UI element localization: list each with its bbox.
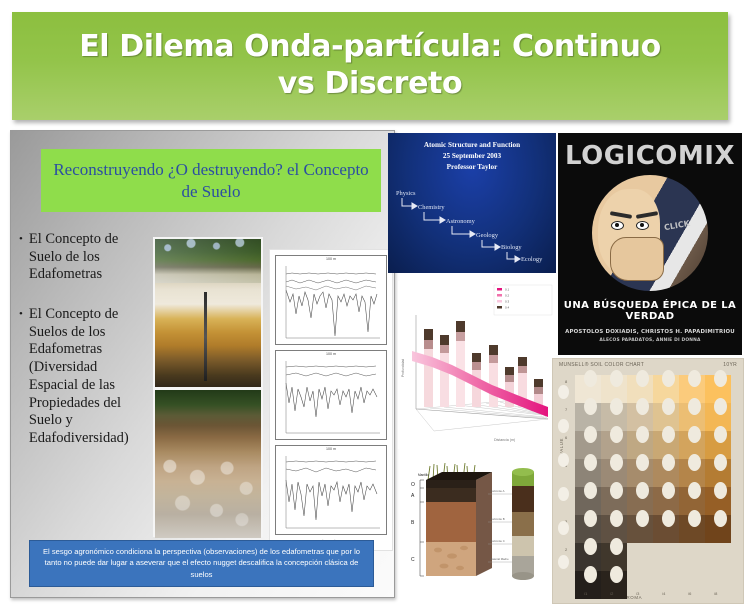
munsell-swatch-notch <box>688 482 701 499</box>
munsell-swatch-notch <box>714 426 727 443</box>
left-slide-heading-box: Reconstruyendo ¿O destruyendo? el Concep… <box>41 149 381 212</box>
munsell-swatch <box>627 515 653 543</box>
munsell-swatch-notch <box>636 398 649 415</box>
spectral-chart-3: 100 m <box>275 445 387 535</box>
munsell-swatch-notch <box>610 538 623 555</box>
atomic-slide-presenter: Professor Taylor <box>388 162 556 173</box>
logicomix-book-cover: LOGICOMIX CLICK UNA BÚSQUEDA ÉPICA DE LA… <box>558 133 742 355</box>
munsell-swatch-notch <box>714 510 727 527</box>
page-title-line1: El Dilema Onda-partícula: Continuo <box>79 29 661 66</box>
bullet-text: El Concepto de Suelos de los Edafometras… <box>29 306 149 448</box>
core-label-1: Horizonte A <box>490 489 505 493</box>
podzol-soil-profile-photo <box>155 239 261 387</box>
soil-profile-diagram-svg: O A B C Mantillo Hor <box>400 450 550 602</box>
munsell-swatch-notch <box>662 482 675 499</box>
slide-title-banner: El Dilema Onda-partícula: Continuo vs Di… <box>12 12 728 120</box>
munsell-swatch <box>575 571 601 599</box>
munsell-swatch-notch <box>584 566 597 583</box>
atomic-slide-title: Atomic Structure and Function <box>388 140 556 151</box>
munsell-swatch-notch <box>584 370 597 387</box>
munsell-swatch <box>679 515 705 543</box>
stony-soil-profile-photo <box>155 390 261 538</box>
munsell-swatch-notch <box>662 510 675 527</box>
munsell-chroma-tick: /2 <box>610 591 613 596</box>
munsell-swatch-notch <box>636 510 649 527</box>
horizon-label-O: O <box>411 482 415 488</box>
horizon-A-layer <box>426 488 476 502</box>
munsell-swatch-notch <box>688 454 701 471</box>
bullet-marker-icon: • <box>19 231 23 284</box>
munsell-chroma-tick: /4 <box>662 591 665 596</box>
munsell-swatch-notch <box>714 398 727 415</box>
eyebrow-left-icon <box>610 211 632 219</box>
logicomix-subtitle: UNA BÚSQUEDA ÉPICA DE LA VERDAD <box>558 300 742 322</box>
munsell-swatch-notch <box>584 454 597 471</box>
core-label-2: Horizonte B <box>490 517 505 521</box>
spectral-chart-1-plot <box>276 256 386 344</box>
svg-text:0.4: 0.4 <box>505 306 510 310</box>
munsell-soil-color-chart: MUNSELL® SOIL COLOR CHART 10YR VALUE CHR… <box>552 358 744 604</box>
horizon-label-A: A <box>411 493 415 499</box>
munsell-swatch-notch <box>714 370 727 387</box>
spectral-chart-1: 100 m <box>275 255 387 345</box>
munsell-swatch-notch <box>662 454 675 471</box>
munsell-swatch-notch <box>584 398 597 415</box>
chain-arrows-icon <box>388 176 556 268</box>
comic-bricks-illustration <box>646 233 708 291</box>
munsell-swatch-notch <box>584 426 597 443</box>
munsell-value-tick: 6 <box>565 435 567 440</box>
logicomix-authors-secondary: ALECOS PAPADATOS, ANNIE DI DONNA <box>558 338 742 343</box>
munsell-chroma-tick: /8 <box>714 591 717 596</box>
munsell-swatch-notch <box>662 426 675 443</box>
science-chain-diagram: Physics Chemistry Astronomy Geology Biol… <box>388 176 556 268</box>
munsell-swatch-notch <box>610 454 623 471</box>
horizon-label-C: C <box>411 557 415 563</box>
munsell-swatch-notch <box>714 454 727 471</box>
munsell-swatch-notch <box>610 370 623 387</box>
atomic-structure-slide: Atomic Structure and Function 25 Septemb… <box>388 133 556 273</box>
logicomix-cover-illustration: CLICK <box>592 175 708 291</box>
munsell-swatch-notch <box>636 454 649 471</box>
atomic-slide-date: 25 September 2003 <box>388 151 556 162</box>
munsell-swatch-notch <box>610 482 623 499</box>
munsell-swatch-notch <box>636 482 649 499</box>
svg-text:0.3: 0.3 <box>505 300 510 304</box>
munsell-swatch-notch <box>584 482 597 499</box>
munsell-swatch <box>705 515 731 543</box>
caption-text: El sesgo agronómico condiciona la perspe… <box>36 546 367 581</box>
munsell-swatch-notch <box>688 510 701 527</box>
spectral-chart-3-plot <box>276 446 386 534</box>
munsell-swatch-notch <box>610 426 623 443</box>
pinkchart-ylabel: Profundidad <box>401 359 405 377</box>
munsell-swatch-notch <box>636 426 649 443</box>
eyebrow-right-icon <box>636 211 658 219</box>
munsell-swatch-notch <box>688 370 701 387</box>
core-label-3: Horizonte C <box>490 539 505 543</box>
munsell-page-code: 10YR <box>723 362 737 368</box>
munsell-swatch-notch <box>688 426 701 443</box>
chart-legend: 0.1 0.2 0.3 0.4 <box>494 285 552 315</box>
soil-core-sample <box>512 468 534 580</box>
munsell-swatch-notch <box>662 370 675 387</box>
bullet-list: • El Concepto de Suelo de los Edafometra… <box>19 231 149 470</box>
munsell-swatch-notch <box>584 510 597 527</box>
presentation-slide: El Dilema Onda-partícula: Continuo vs Di… <box>0 0 744 606</box>
svg-text:0.2: 0.2 <box>505 294 510 298</box>
left-slide-heading: Reconstruyendo ¿O destruyendo? el Concep… <box>41 159 381 202</box>
pinkchart-xlabel: Distancia (m) <box>494 438 515 442</box>
horizon-label-B: B <box>411 520 415 526</box>
pupil-right-icon <box>640 223 644 227</box>
horizon-C-layer <box>426 542 476 576</box>
munsell-chroma-tick: /6 <box>688 591 691 596</box>
munsell-swatch-notch <box>610 510 623 527</box>
munsell-chroma-tick: /3 <box>636 591 639 596</box>
spectral-chart-2-plot <box>276 351 386 439</box>
horizon-B-layer <box>426 502 476 542</box>
soil-profile-diagram: O A B C Mantillo Hor <box>400 450 550 602</box>
logicomix-title: LOGICOMIX <box>558 141 742 171</box>
soil-depth-3d-chart: 0.1 0.2 0.3 0.4 Profundidad Distancia (m… <box>398 281 558 449</box>
core-label-4: Material Madre <box>490 557 509 561</box>
munsell-title: MUNSELL® SOIL COLOR CHART <box>559 362 644 368</box>
munsell-swatch-notch <box>688 398 701 415</box>
munsell-swatch-notch <box>662 398 675 415</box>
munsell-swatch-notch <box>610 398 623 415</box>
munsell-value-tick: 8 <box>565 379 567 384</box>
logicomix-authors-primary: APOSTOLOS DOXIADIS, CHRISTOS H. PAPADIMI… <box>558 329 742 335</box>
spectral-chart-column: 100 m 100 m <box>269 249 393 551</box>
caption-banner: El sesgo agronómico condiciona la perspe… <box>29 540 374 587</box>
munsell-value-tick: 7 <box>565 407 567 412</box>
click-sound-effect-text: CLICK <box>663 219 690 232</box>
munsell-swatch-notch <box>636 370 649 387</box>
munsell-swatch <box>653 515 679 543</box>
spectral-chart-2: 100 m <box>275 350 387 440</box>
munsell-header: MUNSELL® SOIL COLOR CHART 10YR <box>553 359 743 368</box>
munsell-value-tick: 2 <box>565 547 567 552</box>
munsell-swatch-notch <box>584 538 597 555</box>
page-title: El Dilema Onda-partícula: Continuo vs Di… <box>65 29 675 102</box>
left-content-slide: Reconstruyendo ¿O destruyendo? el Concep… <box>10 130 395 598</box>
atomic-slide-header: Atomic Structure and Function 25 Septemb… <box>388 140 556 172</box>
munsell-chroma-tick: /1 <box>584 591 587 596</box>
munsell-swatch-notch <box>714 482 727 499</box>
list-item: • El Concepto de Suelos de los Edafometr… <box>19 306 149 448</box>
bullet-text: El Concepto de Suelo de los Edafometras <box>29 231 149 284</box>
svg-text:0.1: 0.1 <box>505 288 510 292</box>
horizon-O-layer <box>426 480 476 488</box>
soil-photo-column <box>153 237 263 537</box>
munsell-swatch-notch <box>610 566 623 583</box>
bullet-marker-icon: • <box>19 306 23 448</box>
list-item: • El Concepto de Suelo de los Edafometra… <box>19 231 149 284</box>
mantillo-label: Mantillo <box>418 473 429 477</box>
page-title-line2: vs Discreto <box>79 66 661 103</box>
soil-depth-3d-chart-plot: 0.1 0.2 0.3 0.4 Profundidad Distancia (m… <box>398 281 558 449</box>
munsell-swatch <box>601 571 627 599</box>
pupil-left-icon <box>615 223 619 227</box>
